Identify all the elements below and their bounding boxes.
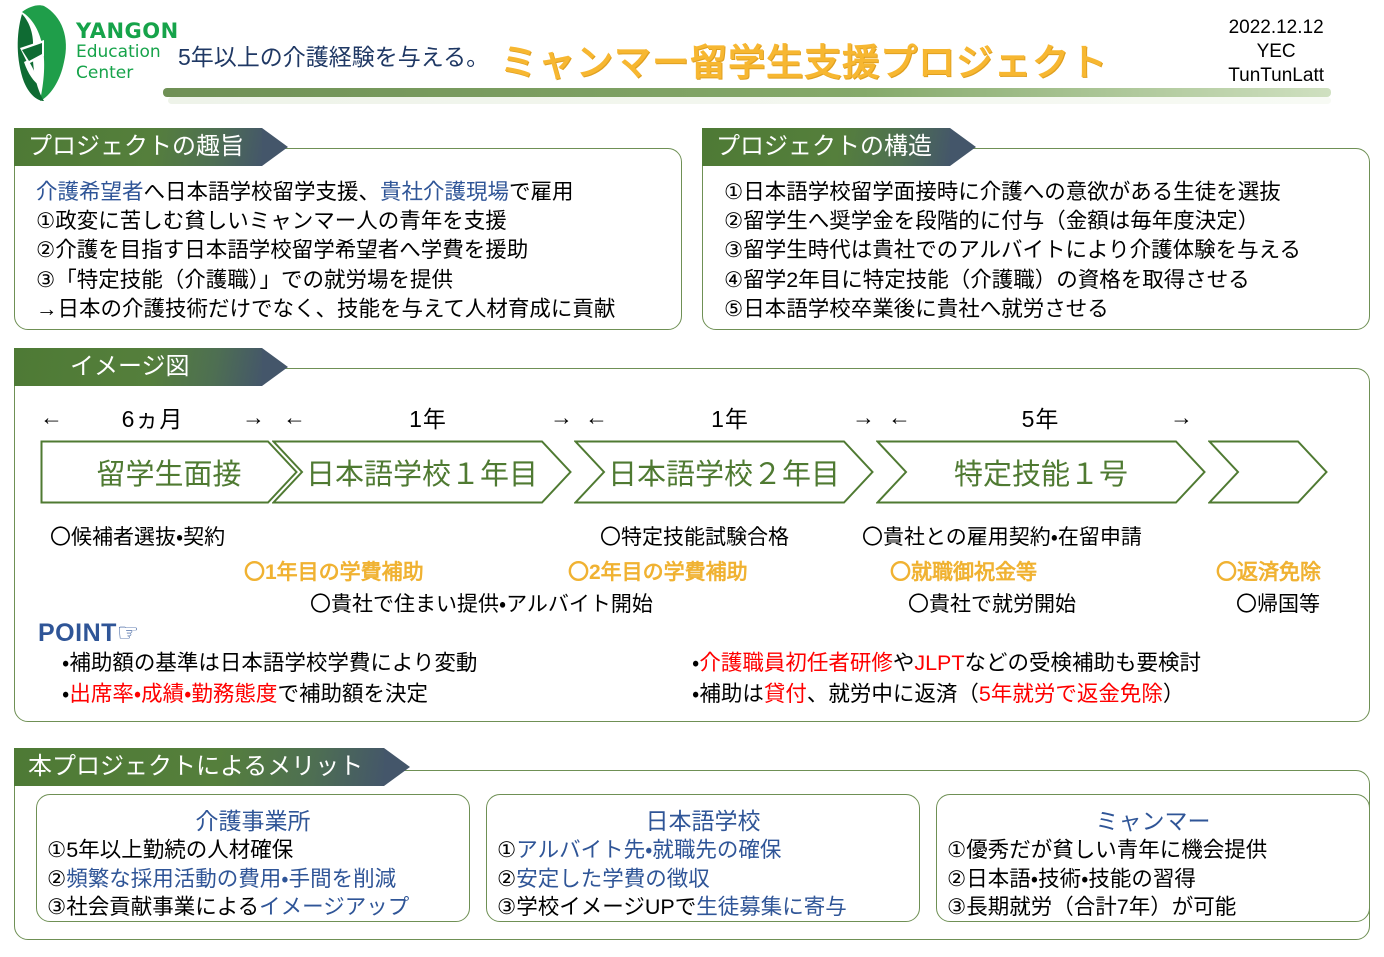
merit-3-1-num: ① — [947, 838, 966, 862]
merit-2-2-num: ② — [497, 867, 516, 891]
annotation-2-4: 〇返済免除 — [1216, 556, 1321, 586]
stage-2[interactable]: 日本語学校１年目 — [272, 440, 572, 504]
purpose-lead-c: 貴社介護現場 — [380, 180, 509, 204]
merit-box-2-title: 日本語学校 — [487, 802, 919, 836]
point-list-left: ・補助額の基準は日本語学校学費により変動 ・出席率・成績・勤務態度で補助額を決定 — [62, 648, 477, 710]
merit-1-2-blue: 頻繁な採用活動の費用・手間を削減 — [66, 867, 396, 891]
yangon-leaf-graduation-logo-icon — [14, 4, 72, 102]
purpose-item-1: ①政変に苦しむ貧しいミャンマー人の青年を支援 — [36, 207, 676, 236]
logo-wordmark: YANGON Education Center — [76, 20, 179, 85]
merit-box-2-list: ①アルバイト先・就職先の確保 ②安定した学費の徴収 ③学校イメージUPで生徒募集… — [497, 836, 919, 922]
stage-5-terminal[interactable] — [1208, 440, 1328, 504]
merit-2-1-num: ① — [497, 838, 516, 862]
timeline-durations: ← 6ヵ月 → ← 1年 → ← 1年 → ← 5年 → — [40, 400, 1340, 436]
merit-1-1-num: ① — [47, 838, 66, 862]
arrow-right-icon: → — [242, 404, 265, 431]
tab-arrow-icon — [384, 748, 410, 786]
annotation-3-1: 〇貴社で住まい提供・アルバイト開始 — [310, 588, 653, 618]
point-label: POINT☞ — [38, 618, 140, 648]
tab-image-diagram-label: イメージ図 — [14, 355, 200, 379]
merit-box-3-line-2: ②日本語・技術・技能の習得 — [947, 865, 1369, 894]
merit-box-2-line-3: ③学校イメージUPで生徒募集に寄与 — [497, 893, 919, 922]
point-right-1-black2: などの受検補助も要検討 — [965, 651, 1202, 675]
stage-1[interactable]: 留学生面接 — [40, 440, 298, 504]
tab-project-structure-label: プロジェクトの構造 — [702, 135, 942, 159]
point-left-1-text: 補助額の基準は日本語学校学費により変動 — [69, 651, 477, 675]
logo-line-3: Center — [76, 63, 179, 84]
purpose-item-3: ③「特定技能（介護職）」での就労場を提供 — [36, 266, 676, 295]
tab-merits: 本プロジェクトによるメリット — [14, 748, 384, 786]
arrow-right-icon: → — [550, 404, 573, 431]
duration-3-label: 1年 — [711, 400, 749, 434]
merit-box-1-line-3: ③社会貢献事業によるイメージアップ — [47, 893, 469, 922]
merit-box-3-title: ミャンマー — [937, 802, 1369, 836]
panel-project-purpose-body: 介護希望者へ日本語学校留学支援、貴社介護現場で雇用 ①政変に苦しむ貧しいミャンマ… — [36, 178, 676, 324]
merit-3-2-black: 日本語・技術・技能の習得 — [966, 867, 1196, 891]
merit-1-2-num: ② — [47, 867, 66, 891]
merit-box-3-line-3: ③長期就労（合計7年）が可能 — [947, 893, 1369, 922]
arrow-left-icon: ← — [585, 404, 608, 431]
point-right-2: ・補助は貸付、就労中に返済（5年就労で返金免除） — [692, 679, 1201, 710]
annotation-3-3: 〇帰国等 — [1236, 588, 1320, 618]
annotation-2-2: 〇2年目の学費補助 — [568, 556, 748, 586]
annotation-1-2: 〇特定技能試験合格 — [600, 521, 789, 551]
merit-2-2-blue: 安定した学費の徴収 — [516, 867, 710, 891]
meta-date: 2022.12.12 — [1228, 16, 1324, 40]
stage-1-label: 留学生面接 — [96, 451, 241, 493]
annotation-1-3: 〇貴社との雇用契約・在留申請 — [862, 521, 1142, 551]
merit-2-1-blue: アルバイト先・就職先の確保 — [516, 838, 781, 862]
header-divider-shadow — [168, 97, 1331, 104]
tab-arrow-icon — [262, 128, 288, 166]
merit-box-3-line-1: ①優秀だが貧しい青年に機会提供 — [947, 836, 1369, 865]
point-right-2-black1: 補助は — [699, 682, 764, 706]
structure-item-1: ①日本語学校留学面接時に介護への意欲がある生徒を選抜 — [724, 178, 1364, 207]
point-right-2-red1: 貸付 — [764, 682, 807, 706]
structure-item-5: ⑤日本語学校卒業後に貴社へ就労させる — [724, 295, 1364, 324]
point-list-right: ・介護職員初任者研修やJLPTなどの受検補助も要検討 ・補助は貸付、就労中に返済… — [692, 648, 1201, 710]
point-right-2-black3: ） — [1163, 682, 1185, 706]
point-right-1-red2: JLPT — [914, 651, 964, 675]
annotation-2-1: 〇1年目の学費補助 — [244, 556, 424, 586]
logo-line-1: YANGON — [76, 20, 179, 42]
purpose-lead-a: 介護希望者 — [36, 180, 144, 204]
merit-box-japanese-school: 日本語学校 ①アルバイト先・就職先の確保 ②安定した学費の徴収 ③学校イメージU… — [486, 794, 920, 922]
arrow-left-icon: ← — [888, 404, 911, 431]
stage-4[interactable]: 特定技能１号 — [876, 440, 1206, 504]
arrow-left-icon: ← — [283, 404, 306, 431]
arrow-right-icon: → — [1170, 404, 1193, 431]
page-title: ミャンマー留学生支援プロジェクト — [500, 32, 1108, 86]
merit-2-3-black: 学校イメージUPで — [516, 895, 696, 919]
arrow-right-icon: → — [852, 404, 875, 431]
tab-project-purpose: プロジェクトの趣旨 — [14, 128, 262, 166]
arrow-left-icon: ← — [40, 404, 63, 431]
merit-1-1-black: 5年以上勤続の人材確保 — [66, 838, 293, 862]
timeline-stages: 留学生面接 日本語学校１年目 日本語学校２年目 特定技能１号 — [40, 440, 1340, 506]
tab-arrow-icon — [262, 348, 288, 386]
purpose-lead: 介護希望者へ日本語学校留学支援、貴社介護現場で雇用 — [36, 178, 676, 207]
point-right-2-black2: 、就労中に返済（ — [807, 682, 979, 706]
duration-3: ← 1年 → — [585, 400, 875, 434]
duration-2-label: 1年 — [409, 400, 447, 434]
merit-box-2-line-2: ②安定した学費の徴収 — [497, 865, 919, 894]
slide-header: YANGON Education Center 5年以上の介護経験を与える。 ミ… — [0, 0, 1384, 112]
merit-box-1-title: 介護事業所 — [37, 802, 469, 836]
point-left-2: ・出席率・成績・勤務態度で補助額を決定 — [62, 679, 477, 710]
tab-image-diagram: イメージ図 — [14, 348, 262, 386]
purpose-item-2: ②介護を目指す日本語学校留学希望者へ学費を援助 — [36, 236, 676, 265]
stage-2-label: 日本語学校１年目 — [306, 451, 538, 493]
merit-1-3-num: ③ — [47, 895, 66, 919]
merit-3-1-black: 優秀だが貧しい青年に機会提供 — [966, 838, 1267, 862]
purpose-lead-b: へ日本語学校留学支援、 — [144, 180, 381, 204]
header-divider — [163, 88, 1331, 97]
annotation-3-2: 〇貴社で就労開始 — [908, 588, 1076, 618]
point-right-2-red2: 5年就労で返金免除 — [979, 682, 1163, 706]
header-subtitle: 5年以上の介護経験を与える。 — [178, 38, 489, 72]
duration-4-label: 5年 — [1022, 400, 1060, 434]
point-left-2-black: で補助額を決定 — [277, 682, 428, 706]
meta-org: YEC — [1228, 40, 1324, 64]
merit-box-3-list: ①優秀だが貧しい青年に機会提供 ②日本語・技術・技能の習得 ③長期就労（合計7年… — [947, 836, 1369, 922]
duration-1-label: 6ヵ月 — [122, 400, 184, 434]
logo-line-2: Education — [76, 42, 179, 63]
timeline-diagram: ← 6ヵ月 → ← 1年 → ← 1年 → ← 5年 → 留学生面接 — [40, 400, 1340, 510]
annotation-1-1: 〇候補者選抜・契約 — [50, 521, 225, 551]
tab-project-purpose-label: プロジェクトの趣旨 — [14, 135, 254, 159]
duration-2: ← 1年 → — [283, 400, 573, 434]
merit-box-1-list: ①5年以上勤続の人材確保 ②頻繁な採用活動の費用・手間を削減 ③社会貢献事業によ… — [47, 836, 469, 922]
point-left-2-red: 出席率・成績・勤務態度 — [69, 682, 277, 706]
merit-3-2-num: ② — [947, 867, 966, 891]
point-left-1: ・補助額の基準は日本語学校学費により変動 — [62, 648, 477, 679]
merit-1-3-black: 社会貢献事業による — [66, 895, 259, 919]
tab-project-structure: プロジェクトの構造 — [702, 128, 950, 166]
panel-project-structure-body: ①日本語学校留学面接時に介護への意欲がある生徒を選抜 ②留学生へ奨学金を段階的に… — [724, 178, 1364, 324]
merit-1-3-blue: イメージアップ — [259, 895, 409, 919]
merit-3-3-num: ③ — [947, 895, 966, 919]
merit-box-1-line-1: ①5年以上勤続の人材確保 — [47, 836, 469, 865]
point-right-1-black1: や — [893, 651, 915, 675]
structure-item-4: ④留学2年目に特定技能（介護職）の資格を取得させる — [724, 266, 1364, 295]
merit-2-3-blue: 生徒募集に寄与 — [696, 895, 847, 919]
point-right-1: ・介護職員初任者研修やJLPTなどの受検補助も要検討 — [692, 648, 1201, 679]
duration-1: ← 6ヵ月 → — [40, 400, 265, 434]
structure-item-2: ②留学生へ奨学金を段階的に付与（金額は毎年度決定） — [724, 207, 1364, 236]
header-meta: 2022.12.12 YEC TunTunLatt — [1228, 16, 1324, 87]
stage-3[interactable]: 日本語学校２年目 — [574, 440, 874, 504]
yangon-education-center-logo: YANGON Education Center — [14, 4, 164, 104]
merit-box-care-facility: 介護事業所 ①5年以上勤続の人材確保 ②頻繁な採用活動の費用・手間を削減 ③社会… — [36, 794, 470, 922]
merit-box-1-line-2: ②頻繁な採用活動の費用・手間を削減 — [47, 865, 469, 894]
meta-author: TunTunLatt — [1228, 64, 1324, 88]
stage-4-label: 特定技能１号 — [954, 451, 1128, 493]
merit-box-2-line-1: ①アルバイト先・就職先の確保 — [497, 836, 919, 865]
duration-4: ← 5年 → — [888, 400, 1193, 434]
merit-3-3-black: 長期就労（合計7年）が可能 — [966, 895, 1236, 919]
tab-arrow-icon — [950, 128, 976, 166]
annotation-2-3: 〇就職御祝金等 — [890, 556, 1037, 586]
purpose-item-4: →日本の介護技術だけでなく、技能を与えて人材育成に貢献 — [36, 295, 676, 324]
merit-box-myanmar: ミャンマー ①優秀だが貧しい青年に機会提供 ②日本語・技術・技能の習得 ③長期就… — [936, 794, 1370, 922]
purpose-lead-d: で雇用 — [509, 180, 574, 204]
point-right-1-red1: 介護職員初任者研修 — [699, 651, 893, 675]
merit-2-3-num: ③ — [497, 895, 516, 919]
stage-3-label: 日本語学校２年目 — [608, 451, 840, 493]
tab-merits-label: 本プロジェクトによるメリット — [14, 755, 373, 779]
structure-item-3: ③留学生時代は貴社でのアルバイトにより介護体験を与える — [724, 236, 1364, 265]
